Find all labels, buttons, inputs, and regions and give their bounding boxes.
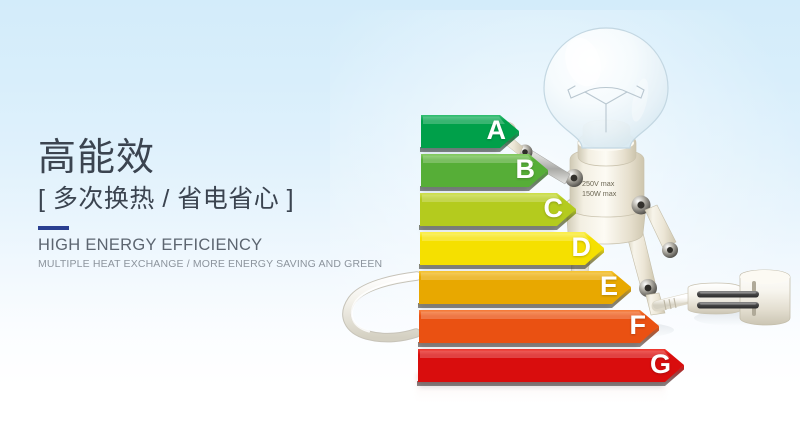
energy-bar-c: C — [417, 191, 579, 227]
energy-bar-letter: F — [630, 312, 647, 339]
energy-bar-a: A — [418, 113, 522, 149]
bar-shape — [415, 347, 687, 390]
energy-bar-g: G — [415, 347, 687, 383]
accent-divider — [38, 226, 69, 230]
subheadline-english: MULTIPLE HEAT EXCHANGE / MORE ENERGY SAV… — [38, 257, 438, 271]
energy-bar-letter: C — [544, 195, 564, 222]
energy-bar-letter: D — [572, 234, 592, 261]
energy-bar-d: D — [417, 230, 607, 266]
headline-block: 高能效 [ 多次换热 / 省电省心 ] HIGH ENERGY EFFICIEN… — [38, 136, 438, 271]
bar-shape — [416, 308, 662, 351]
energy-bar-b: B — [418, 152, 551, 188]
energy-bar-f: F — [416, 308, 662, 344]
energy-bar-letter: B — [516, 156, 536, 183]
subheadline-chinese: [ 多次换热 / 省电省心 ] — [38, 184, 438, 215]
headline-english: HIGH ENERGY EFFICIENCY — [38, 235, 438, 255]
energy-bar-e: E — [416, 269, 634, 305]
energy-efficiency-banner: 250V max 150W max — [0, 0, 800, 438]
headline-chinese: 高能效 — [38, 136, 438, 180]
energy-bar-letter: G — [650, 351, 671, 378]
energy-bar-letter: E — [600, 273, 618, 300]
energy-bar-letter: A — [487, 117, 507, 144]
